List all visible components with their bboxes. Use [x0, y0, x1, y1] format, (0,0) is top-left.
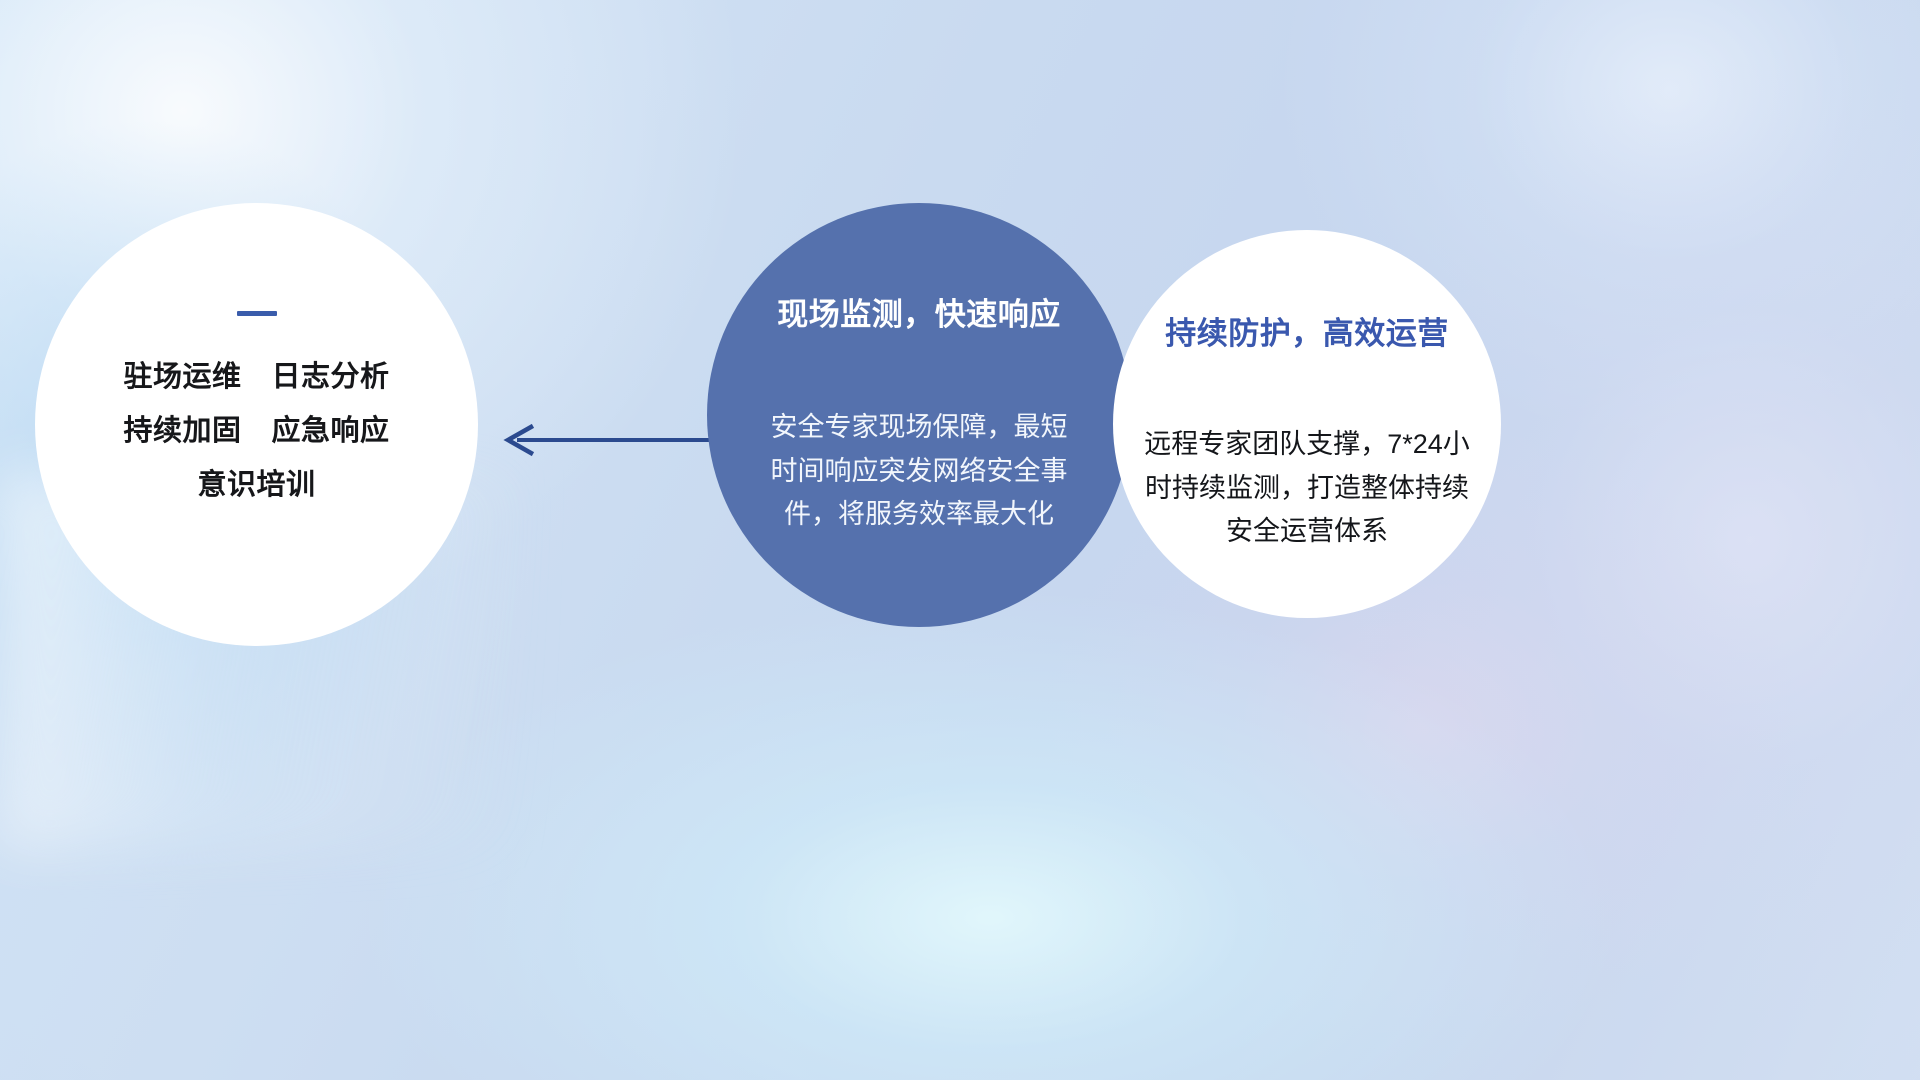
capability-row-2: 持续加固 应急响应	[35, 416, 478, 448]
divider-dash-icon	[237, 311, 277, 316]
onsite-monitoring-content: 现场监测，快速响应 安全专家现场保障，最短时间响应突发网络安全事件，将服务效率最…	[707, 203, 1131, 537]
capabilities-circle[interactable]: 驻场运维 日志分析 持续加固 应急响应 意识培训	[35, 203, 478, 646]
continuous-protection-body: 远程专家团队支撑，7*24小时持续监测，打造整体持续安全运营体系	[1137, 423, 1477, 554]
capability-keyword: 意识培训	[197, 470, 315, 502]
capability-keyword: 应急响应	[272, 416, 390, 448]
capability-row-3: 意识培训	[35, 470, 478, 502]
capability-row-1: 驻场运维 日志分析	[35, 362, 478, 394]
continuous-protection-title: 持续防护，高效运营	[1113, 308, 1501, 353]
onsite-monitoring-body: 安全专家现场保障，最短时间响应突发网络安全事件，将服务效率最大化	[769, 406, 1069, 537]
connector-arrow	[495, 418, 725, 462]
capabilities-content: 驻场运维 日志分析 持续加固 应急响应 意识培训	[35, 203, 478, 502]
continuous-protection-content: 持续防护，高效运营 远程专家团队支撑，7*24小时持续监测，打造整体持续安全运营…	[1113, 230, 1501, 554]
capability-keyword: 持续加固	[123, 416, 241, 448]
capability-keyword: 日志分析	[272, 362, 390, 394]
continuous-protection-circle[interactable]: 持续防护，高效运营 远程专家团队支撑，7*24小时持续监测，打造整体持续安全运营…	[1113, 230, 1501, 618]
slide-canvas: 驻场运维 日志分析 持续加固 应急响应 意识培训 现场监测，快速响应 安全专家现…	[0, 0, 1920, 1080]
onsite-monitoring-circle[interactable]: 现场监测，快速响应 安全专家现场保障，最短时间响应突发网络安全事件，将服务效率最…	[707, 203, 1131, 627]
onsite-monitoring-title: 现场监测，快速响应	[707, 289, 1131, 334]
left-arrow-icon	[495, 418, 725, 462]
capability-keyword: 驻场运维	[123, 362, 241, 394]
